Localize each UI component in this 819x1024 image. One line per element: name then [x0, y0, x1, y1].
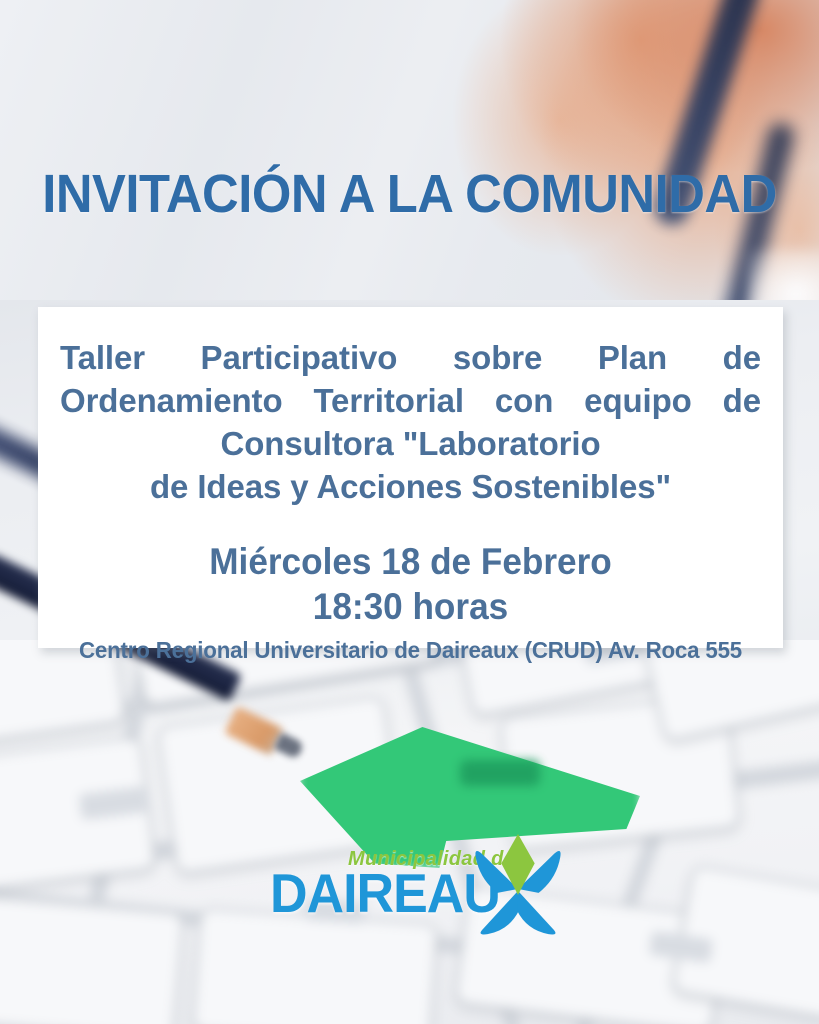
event-venue: Centro Regional Universitario de Daireau… — [71, 637, 751, 664]
workshop-line-2: Territorial con equipo de Consultora "La… — [220, 382, 761, 462]
workshop-description: Taller Participativo sobre Plan de Orden… — [60, 337, 761, 509]
flower-x-icon — [464, 834, 572, 938]
page-title: INVITACIÓN A LA COMUNIDAD — [25, 167, 795, 221]
municipality-logo: Municipalidad de DAIREAU — [268, 838, 568, 938]
event-time: 18:30 horas — [78, 584, 744, 629]
event-datetime: Miércoles 18 de Febrero 18:30 horas — [78, 539, 744, 629]
workshop-line-3: de Ideas y Acciones Sostenibles" — [60, 466, 761, 509]
invitation-poster: INVITACIÓN A LA COMUNIDAD Taller Partici… — [0, 0, 819, 1024]
card-spacer — [60, 509, 761, 539]
parcel-label — [460, 760, 540, 786]
event-date: Miércoles 18 de Febrero — [78, 539, 744, 584]
event-info-card: Taller Participativo sobre Plan de Orden… — [38, 307, 783, 648]
